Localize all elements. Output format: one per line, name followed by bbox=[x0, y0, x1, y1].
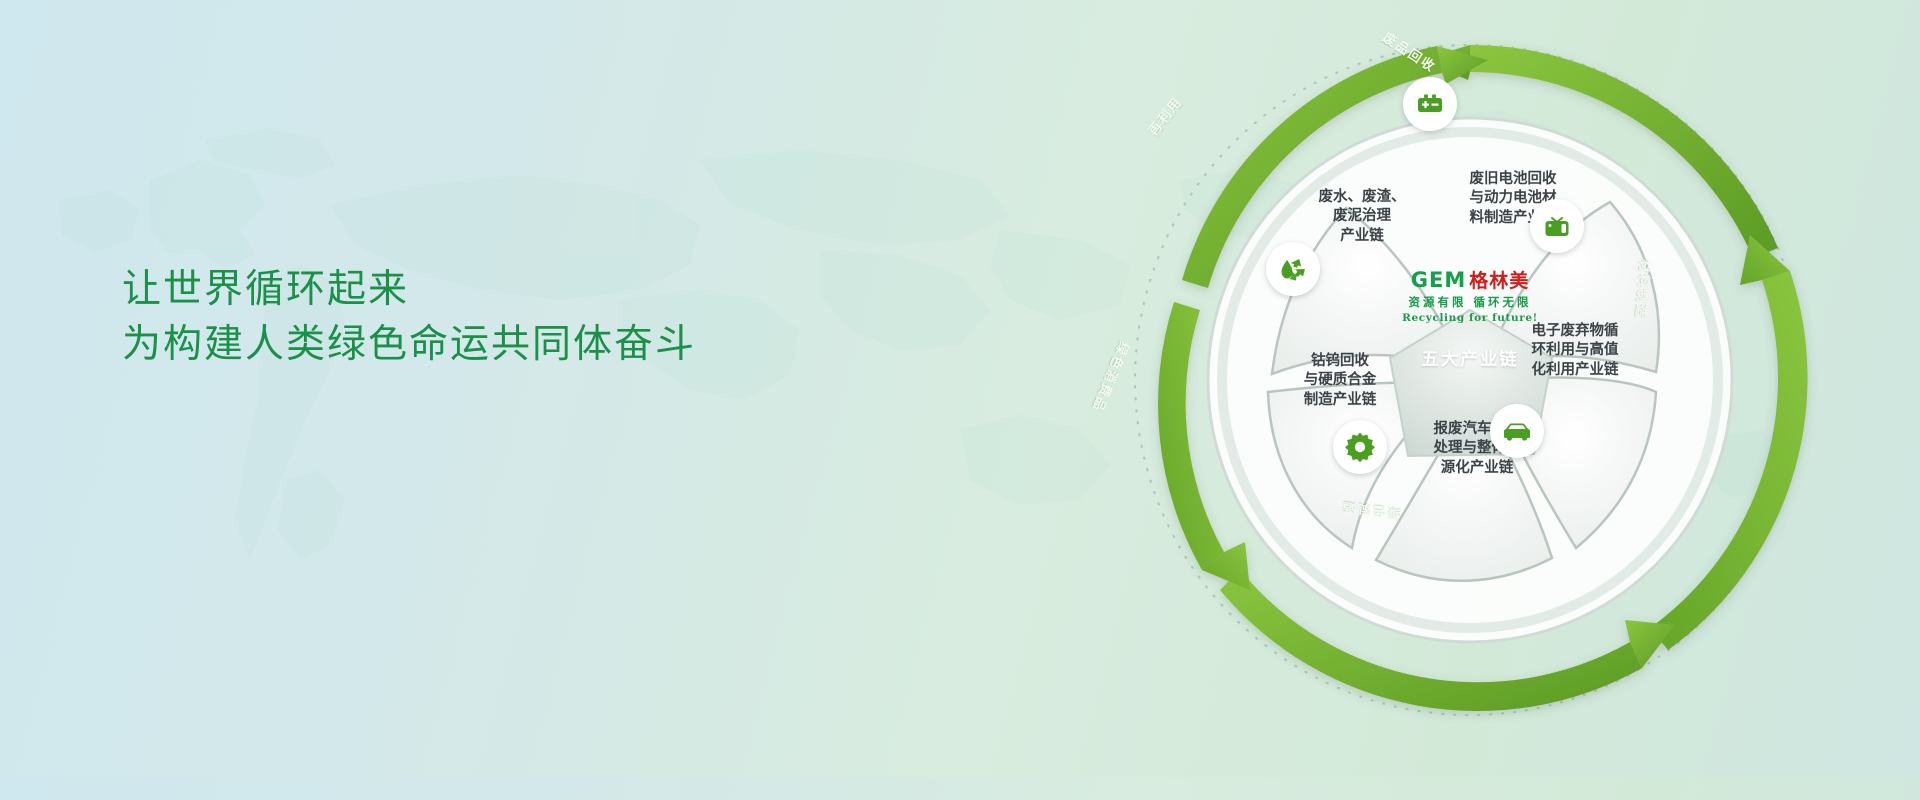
gem-slogan-en: Recycling for future! bbox=[1390, 312, 1550, 324]
battery-icon bbox=[1415, 89, 1445, 119]
tv-icon bbox=[1542, 211, 1572, 241]
center-logo-block: GEM格林美 资源有限 循环无限 Recycling for future! 五… bbox=[1390, 270, 1550, 371]
car-icon-bubble bbox=[1490, 404, 1544, 458]
gear-icon-bubble bbox=[1333, 420, 1387, 474]
gear-icon bbox=[1344, 431, 1376, 463]
five-industry-chain-diagram: 废水、废渣、 废泥治理 产业链 废旧电池回收 与动力电池材 料制造产业链 电子废… bbox=[1090, 0, 1910, 800]
recycle-drop-icon-bubble bbox=[1266, 242, 1320, 296]
car-icon bbox=[1501, 416, 1533, 446]
center-subtitle: 五大产业链 bbox=[1390, 346, 1550, 371]
battery-icon-bubble bbox=[1403, 77, 1457, 131]
recycle-drop-icon bbox=[1277, 253, 1309, 285]
tv-icon-bubble bbox=[1530, 199, 1584, 253]
headline-line-1: 让世界循环起来 bbox=[122, 262, 882, 317]
headline-line-2: 为构建人类绿色命运共同体奋斗 bbox=[122, 317, 882, 372]
page-headline: 让世界循环起来 为构建人类绿色命运共同体奋斗 bbox=[122, 262, 882, 373]
gem-slogan-cn: 资源有限 循环无限 bbox=[1390, 294, 1550, 310]
diagram-graphics bbox=[1090, 0, 1910, 800]
gem-logo-latin: GEM bbox=[1411, 268, 1466, 292]
gem-logo-wordmark: GEM格林美 bbox=[1390, 270, 1550, 291]
gem-logo-chinese: 格林美 bbox=[1469, 270, 1529, 292]
